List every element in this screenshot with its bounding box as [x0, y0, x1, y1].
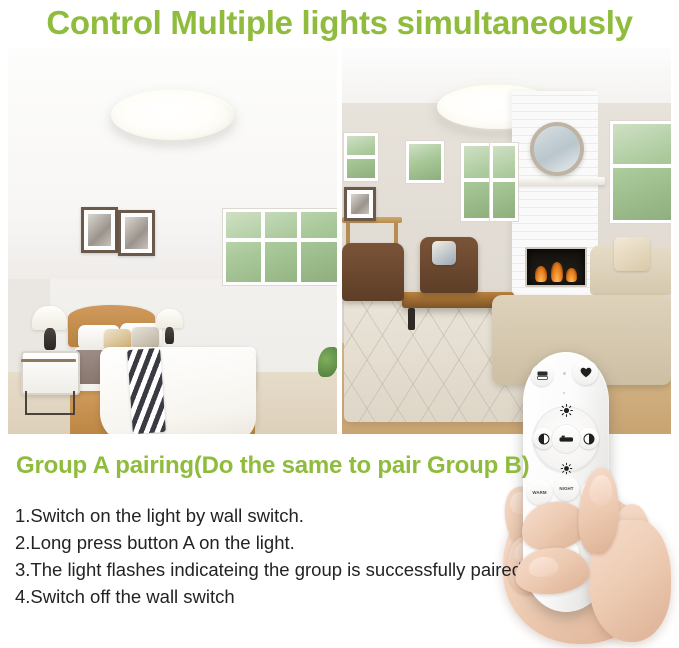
fire-flame: [535, 266, 547, 282]
table-lamp-shade: [156, 309, 183, 328]
artwork-image: [351, 194, 369, 214]
round-wall-mirror: [530, 122, 584, 176]
pairing-step: 2.Long press button A on the light.: [15, 529, 515, 556]
fingernail: [528, 555, 560, 578]
bed-cushion: [132, 327, 159, 349]
pairing-step: 1.Switch on the light by wall switch.: [15, 502, 515, 529]
night-light-button[interactable]: [531, 364, 553, 386]
window-glass: [464, 146, 489, 218]
brightness-up-button[interactable]: [556, 400, 576, 420]
window-mullion: [347, 155, 375, 159]
chair-cushion: [432, 241, 456, 265]
ir-led-indicator: [563, 372, 566, 375]
living-room-window: [406, 141, 444, 183]
desk-picture-frame: [344, 187, 376, 221]
living-room-window: [610, 121, 671, 223]
bedroom-photo: [8, 47, 337, 434]
night-button-label: NIGHT: [559, 486, 573, 491]
bed-duvet: [100, 347, 256, 434]
fireplace-firebox: [525, 247, 587, 287]
table-lamp-base: [44, 328, 56, 350]
table-lamp-shade: [32, 306, 67, 330]
brightness-down-button[interactable]: [556, 458, 576, 478]
living-room-window: [461, 143, 492, 221]
status-led: [563, 392, 565, 394]
product-feature-image: Control Multiple lights simultaneously: [0, 0, 679, 648]
sun-dim-icon: [560, 462, 573, 475]
remote-control-overlay: WARM NIGHT WHITE A B C: [497, 352, 679, 648]
window-glass: [493, 146, 515, 218]
window-mullion: [493, 178, 515, 182]
window-mullion: [226, 238, 337, 242]
window-mullion: [464, 178, 489, 182]
fireplace-mantel: [505, 177, 605, 185]
window-mullion: [261, 212, 265, 282]
house-plant: [318, 347, 337, 377]
power-button[interactable]: [551, 424, 581, 454]
power-icon: [559, 435, 574, 444]
trunk-legs: [25, 391, 75, 415]
living-room-window: [344, 133, 378, 181]
artwork-image: [125, 217, 148, 249]
pairing-steps-list: 1.Switch on the light by wall switch. 2.…: [15, 502, 515, 610]
heart-icon: [580, 367, 592, 378]
warm-button-label: WARM: [532, 490, 546, 495]
bedroom-window: [223, 209, 337, 285]
coffee-table-leg: [408, 308, 415, 330]
fingernail: [588, 474, 613, 506]
table-lamp-base: [165, 327, 174, 344]
window-glass: [409, 144, 441, 180]
leather-armchair: [342, 243, 404, 301]
bed-throw-blanket: [127, 348, 166, 434]
nightstand-trunk: [21, 351, 80, 395]
pairing-step: 4.Switch off the wall switch: [15, 583, 515, 610]
window-mullion: [613, 164, 671, 168]
sofa-cushion: [614, 237, 650, 271]
artwork-image: [88, 214, 111, 246]
trunk-strap: [21, 359, 76, 362]
favorite-button[interactable]: [573, 360, 598, 385]
framed-artwork: [81, 207, 118, 253]
window-mullion: [297, 212, 301, 282]
night-light-icon: [537, 371, 548, 380]
ceiling-light-diffuser: [120, 95, 226, 135]
fire-flame: [551, 262, 563, 282]
night-button[interactable]: NIGHT: [554, 476, 579, 501]
color-temp-icon: [583, 433, 595, 445]
color-temp-icon: [538, 433, 550, 445]
ceiling-light-bedroom: [111, 90, 234, 140]
framed-artwork: [118, 210, 155, 256]
fire-flame: [566, 268, 577, 282]
color-temp-cool-button[interactable]: [578, 428, 599, 449]
living-room-window: [490, 143, 518, 221]
sun-bright-icon: [560, 404, 573, 417]
section-subtitle: Group A pairing(Do the same to pair Grou…: [16, 452, 529, 480]
window-glass: [613, 124, 671, 220]
page-title: Control Multiple lights simultaneously: [0, 0, 679, 46]
warm-button[interactable]: WARM: [527, 480, 552, 505]
pairing-step: 3.The light flashes indicateing the grou…: [15, 556, 515, 583]
window-glass: [226, 212, 337, 282]
